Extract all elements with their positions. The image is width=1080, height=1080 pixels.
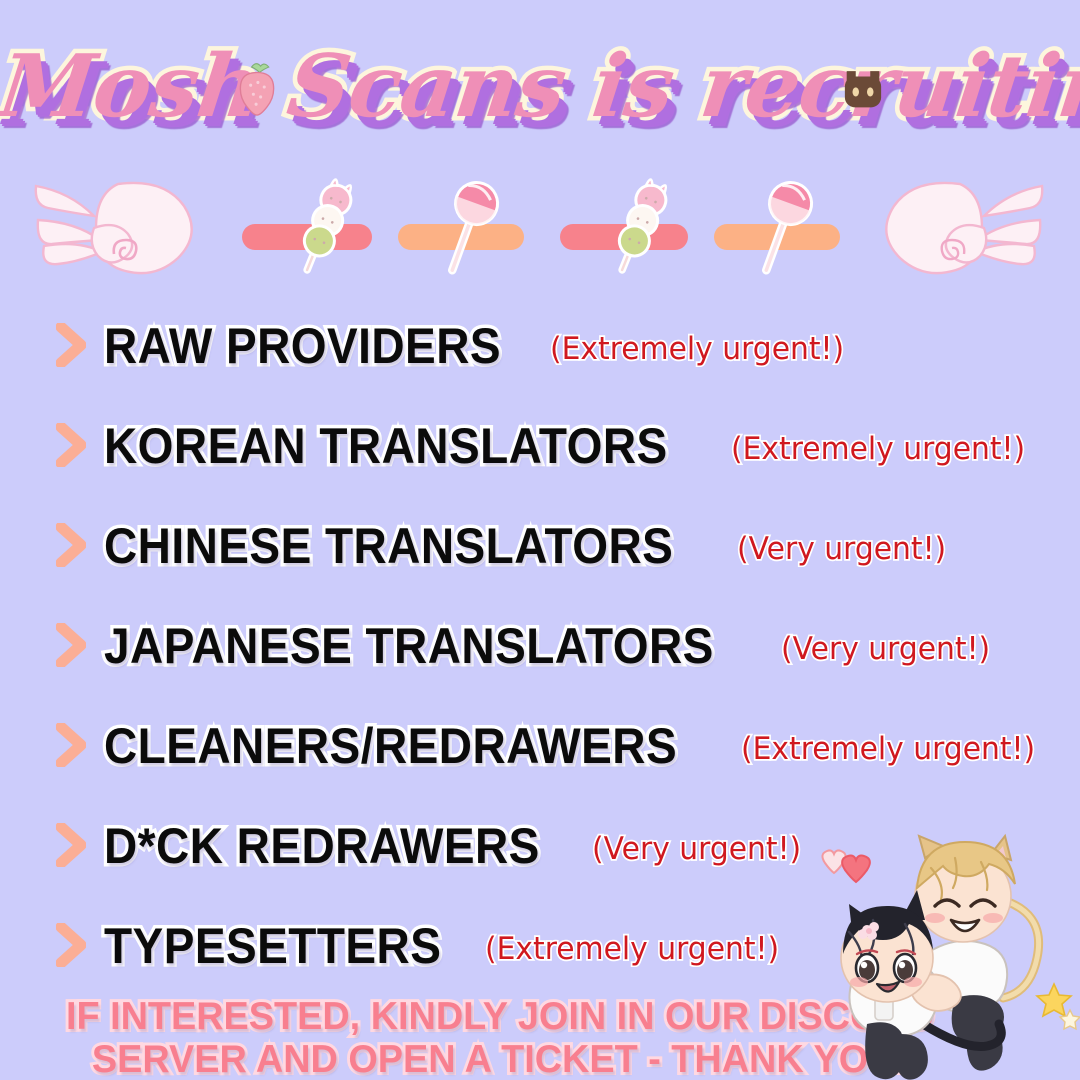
role-row: CLEANERS/REDRAWERS (Extremely urgent!) xyxy=(0,696,1080,796)
lollipop-icon xyxy=(742,172,822,282)
chevron-right-icon xyxy=(56,423,86,467)
chevron-right-icon xyxy=(56,823,86,867)
role-urgency: (Very urgent!) xyxy=(592,832,801,866)
chevron-right-icon xyxy=(56,323,86,367)
bear-icon xyxy=(834,62,892,120)
role-urgency: (Extremely urgent!) xyxy=(550,332,844,366)
role-row: CHINESE TRANSLATORS (Very urgent!) xyxy=(0,496,1080,596)
chevron-right-icon xyxy=(56,923,86,967)
role-label: RAW PROVIDERS xyxy=(104,320,501,372)
strawberry-icon xyxy=(228,58,286,116)
role-urgency: (Extremely urgent!) xyxy=(731,432,1025,466)
star-decor xyxy=(1037,984,1080,1029)
chevron-right-icon xyxy=(56,723,86,767)
wing-right-icon xyxy=(856,170,1056,282)
role-urgency: (Extremely urgent!) xyxy=(741,732,1035,766)
recruitment-poster: Mosh Scans is recruiting! xyxy=(0,0,1080,1080)
role-urgency: (Very urgent!) xyxy=(737,532,946,566)
role-row: JAPANESE TRANSLATORS (Very urgent!) xyxy=(0,596,1080,696)
role-urgency: (Extremely urgent!) xyxy=(485,932,779,966)
chevron-right-icon xyxy=(56,623,86,667)
role-urgency: (Very urgent!) xyxy=(781,632,990,666)
role-label: JAPANESE TRANSLATORS xyxy=(104,620,714,672)
role-label: TYPESETTERS xyxy=(104,920,441,972)
role-label: CHINESE TRANSLATORS xyxy=(104,520,673,572)
dango-icon xyxy=(600,172,680,282)
decorative-divider xyxy=(0,162,1080,290)
page-title: Mosh Scans is recruiting! xyxy=(0,28,1080,146)
role-label: D*CK REDRAWERS xyxy=(104,820,540,872)
dango-icon xyxy=(285,172,365,282)
role-label: KOREAN TRANSLATORS xyxy=(104,420,668,472)
lollipop-icon xyxy=(428,172,508,282)
role-row: KOREAN TRANSLATORS (Extremely urgent!) xyxy=(0,396,1080,496)
wing-left-icon xyxy=(22,170,222,282)
chevron-right-icon xyxy=(56,523,86,567)
role-row: RAW PROVIDERS (Extremely urgent!) xyxy=(0,296,1080,396)
title-band: Mosh Scans is recruiting! xyxy=(0,28,1080,158)
role-label: CLEANERS/REDRAWERS xyxy=(104,720,677,772)
chibi-catboys-illustration xyxy=(805,828,1080,1080)
heart-decor xyxy=(822,850,869,882)
